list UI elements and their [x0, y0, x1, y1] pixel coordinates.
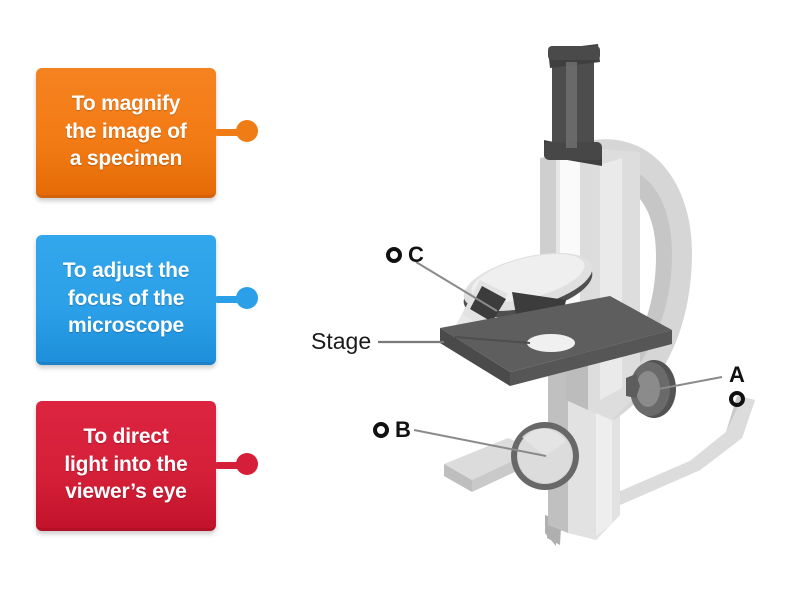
- connector-light[interactable]: [216, 460, 258, 468]
- answer-card-light-text: To direct light into the viewer’s eye: [64, 423, 187, 507]
- connector-magnify[interactable]: [216, 127, 258, 135]
- connector-focus-knob[interactable]: [236, 287, 258, 309]
- marker-c-ring[interactable]: [386, 247, 402, 263]
- marker-a-label: A: [729, 364, 745, 386]
- connector-focus[interactable]: [216, 294, 258, 302]
- marker-a-ring[interactable]: [729, 391, 745, 407]
- marker-b-ring[interactable]: [373, 422, 389, 438]
- connector-light-knob[interactable]: [236, 453, 258, 475]
- answer-card-focus[interactable]: To adjust the focus of the microscope: [36, 235, 216, 365]
- label-stage: Stage: [311, 330, 371, 353]
- answer-card-magnify-text: To magnify the image of a specimen: [65, 90, 186, 174]
- marker-c-label: C: [408, 244, 424, 266]
- connector-magnify-knob[interactable]: [236, 120, 258, 142]
- marker-b-label: B: [395, 419, 411, 441]
- marker-c[interactable]: C: [386, 244, 424, 266]
- microscope-eyepiece: [544, 44, 602, 166]
- marker-b[interactable]: B: [373, 419, 411, 441]
- marker-a[interactable]: A: [729, 364, 745, 407]
- answer-card-magnify[interactable]: To magnify the image of a specimen: [36, 68, 216, 198]
- answer-card-focus-text: To adjust the focus of the microscope: [63, 257, 190, 341]
- answer-card-light[interactable]: To direct light into the viewer’s eye: [36, 401, 216, 531]
